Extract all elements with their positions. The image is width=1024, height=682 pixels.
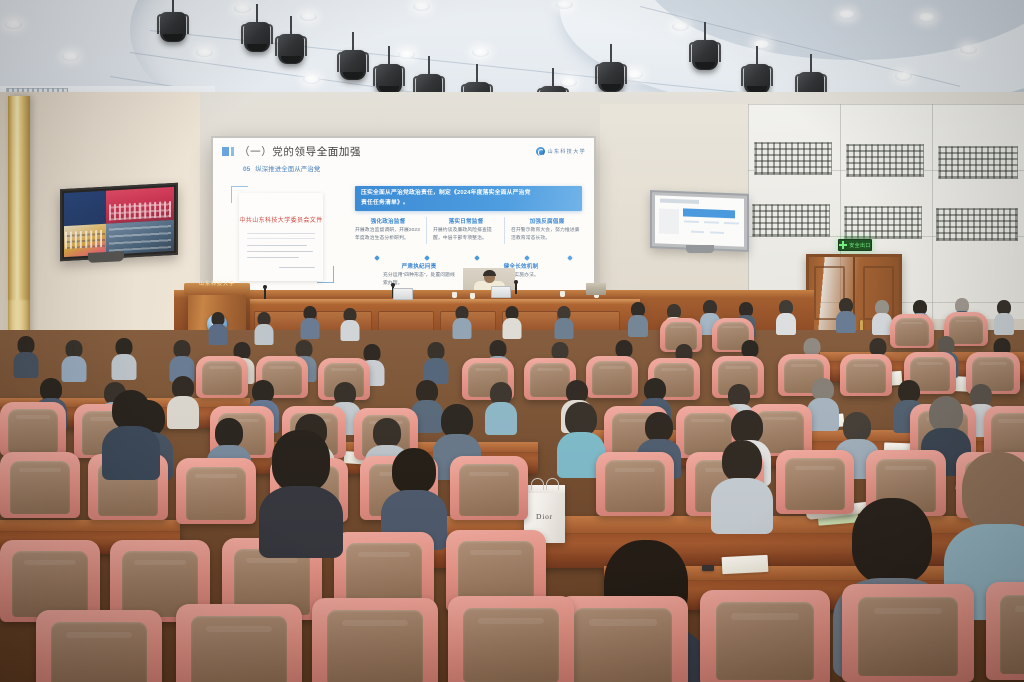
audience-member	[14, 336, 38, 376]
conference-hall-photo: （一）党的领导全面加强 05纵深推进全面从严治党 山东科技大学 中共山东科技大学…	[0, 0, 1024, 682]
downlight	[895, 72, 912, 81]
column-title: 加强反腐倡廉	[511, 217, 583, 225]
mirrored-slide	[655, 195, 744, 246]
perforated-acoustic-panel	[752, 204, 830, 237]
mini-slide-document	[659, 209, 679, 235]
connector-dot-icon	[474, 255, 480, 261]
bag-handle	[546, 478, 559, 490]
audience-member	[452, 306, 471, 338]
perforated-acoustic-panel	[844, 206, 922, 239]
microphone	[264, 287, 266, 299]
downlight	[234, 4, 251, 13]
audience-member	[836, 298, 856, 332]
mini-slide-column	[710, 231, 723, 234]
collage-photo	[64, 191, 106, 227]
audience-member	[486, 382, 516, 432]
laptop[interactable]	[393, 288, 413, 300]
connector-dot-icon	[567, 255, 573, 261]
audience-member	[62, 340, 86, 380]
exit-sign-text: 安全出口	[849, 242, 871, 249]
document-text-line	[247, 245, 307, 246]
column-title: 落实日常监督	[433, 217, 499, 225]
audience-member	[340, 308, 359, 340]
tv-wall-mount	[686, 245, 714, 253]
tv-screen-content	[64, 187, 174, 257]
auditorium-seat[interactable]	[842, 584, 974, 682]
presenter-hair	[483, 270, 496, 276]
document-text-line	[247, 251, 313, 252]
perforated-acoustic-panel	[938, 146, 1018, 179]
downlight	[5, 20, 22, 29]
university-logo: 山东科技大学	[536, 147, 586, 156]
slide-section-number: 05	[243, 166, 250, 173]
mini-slide-column	[691, 230, 704, 233]
mobile-phone[interactable]	[702, 565, 714, 571]
document-text-line	[247, 257, 299, 258]
audience-member	[106, 390, 156, 476]
slide-section-text: 纵深推进全面从严治党	[255, 166, 320, 173]
collage-photo	[106, 187, 174, 224]
water-cup	[560, 291, 565, 297]
slide-banner: 压实全面从严治党政治责任，制定《2024年度落实全面从严治党 责任任务清单》。	[355, 186, 582, 211]
wall-tv-right	[650, 190, 749, 252]
exit-sign: 安全出口	[838, 239, 872, 251]
banner-line-1: 压实全面从严治党政治责任，制定《2024年度落实全面从严治党	[361, 189, 576, 199]
audience-member-foreground	[268, 430, 334, 542]
downlight	[626, 70, 643, 79]
audience-member	[424, 342, 448, 382]
paper-sheet	[722, 555, 769, 574]
downlight	[62, 52, 79, 61]
auditorium-seat[interactable]	[586, 356, 638, 398]
slide-document-image: 中共山东科技大学委员会文件	[239, 193, 323, 281]
perforated-acoustic-panel	[846, 144, 924, 177]
stage-spotlight	[276, 26, 306, 66]
exit-cross-icon	[839, 241, 847, 249]
downlight	[196, 48, 213, 57]
stage-spotlight	[158, 4, 188, 44]
audience-member	[254, 312, 273, 344]
auditorium-seat[interactable]	[890, 314, 934, 348]
audience-member	[554, 306, 573, 338]
slide-columns-top: 强化政治监督 开展政治监督调研，开展2023年度政治生态分析研判。 落实日常监督…	[355, 217, 587, 244]
auditorium-seat[interactable]	[596, 452, 674, 516]
stage-spotlight	[374, 56, 404, 96]
audience-member	[808, 378, 838, 428]
column-body: 开展政治监督调研，开展2023年度政治生态分析研判。	[355, 227, 421, 244]
stage-spotlight	[338, 42, 368, 82]
audience-member	[170, 340, 194, 380]
audience-member	[716, 440, 768, 528]
audience-member	[112, 338, 136, 378]
column-title: 严肃执纪问责	[383, 262, 455, 270]
slide-column: 落实日常监督 开展约谈及廉政风险排查提醒，中层干部专项整治。	[433, 217, 505, 244]
auditorium-seat[interactable]	[558, 596, 688, 682]
downlight	[672, 22, 689, 31]
title-accent-icon	[222, 147, 234, 156]
podium-name-text: 山东科技大学	[184, 280, 250, 287]
tv-wall-mount	[88, 251, 124, 263]
connector-dot-icon	[424, 255, 430, 261]
document-text-line	[247, 233, 315, 234]
audience-member	[208, 312, 227, 344]
downlight	[960, 45, 977, 54]
audience-member	[994, 300, 1014, 334]
slide-column: 加强反腐倡廉 召开警示教育大会，努力推进廉洁教育常态长效。	[511, 217, 583, 244]
audience-member	[168, 376, 198, 426]
laptop[interactable]	[491, 286, 511, 298]
audience-member	[300, 306, 319, 338]
auditorium-seat[interactable]	[700, 590, 830, 682]
bag-brand-text: Dior	[524, 512, 565, 521]
auditorium-seat[interactable]	[36, 610, 162, 682]
water-cup	[452, 292, 457, 298]
downlight	[472, 48, 489, 57]
stage-spotlight	[690, 32, 720, 72]
university-emblem-icon	[536, 147, 545, 156]
slide-heading: （一）党的领导全面加强	[239, 144, 361, 159]
downlight	[918, 13, 935, 22]
tabletop-item	[586, 283, 606, 295]
perforated-acoustic-panel	[936, 208, 1018, 241]
downlight	[413, 2, 430, 11]
auditorium-seat[interactable]	[448, 596, 574, 682]
audience-member	[872, 300, 892, 334]
audience-member-foreground	[960, 452, 1024, 582]
auditorium-seat[interactable]	[986, 582, 1024, 680]
column-body: 召开警示教育大会，努力推进廉洁教育常态长效。	[511, 227, 583, 244]
column-body: 开展约谈及廉政风险排查提醒，中层干部专项整治。	[433, 227, 499, 244]
stage-spotlight	[742, 56, 772, 96]
downlight	[303, 75, 320, 84]
mini-slide-column	[704, 221, 719, 224]
slide-section-label: 05纵深推进全面从严治党	[243, 163, 320, 173]
bag-handle	[531, 478, 544, 490]
mini-slide-banner	[683, 209, 735, 218]
presentation-slide: （一）党的领导全面加强 05纵深推进全面从严治党 山东科技大学 中共山东科技大学…	[213, 138, 594, 293]
perforated-acoustic-panel	[754, 142, 832, 175]
auditorium-seat[interactable]	[840, 354, 892, 396]
downlight	[300, 12, 317, 21]
document-header-title: 中共山东科技大学委员会文件	[239, 215, 323, 224]
university-logo-text: 山东科技大学	[548, 148, 586, 155]
mini-slide-column	[684, 220, 699, 223]
slide-column: 强化政治监督 开展政治监督调研，开展2023年度政治生态分析研判。	[355, 217, 427, 244]
auditorium-seat[interactable]	[0, 402, 66, 456]
downlight	[556, 0, 573, 9]
auditorium-seat[interactable]	[312, 598, 438, 682]
auditorium-seat[interactable]	[450, 456, 528, 520]
audience-member	[628, 302, 648, 336]
connector-dot-icon	[374, 255, 380, 261]
document-text-line	[279, 267, 315, 268]
stage-spotlight	[242, 14, 272, 54]
mini-slide-title-bar	[660, 199, 699, 204]
audience-member	[502, 306, 521, 338]
audience-member	[386, 448, 442, 542]
audience-member	[776, 300, 796, 334]
document-text-line	[247, 238, 315, 239]
auditorium-seat[interactable]	[776, 450, 854, 514]
auditorium-seat[interactable]	[176, 604, 302, 682]
podium-top-surface: 山东科技大学	[184, 283, 250, 295]
auditorium-seat[interactable]	[196, 356, 248, 398]
wall-tv-left	[60, 183, 178, 262]
auditorium-seat[interactable]	[0, 452, 80, 518]
water-cup	[470, 293, 475, 299]
downlight	[838, 10, 855, 19]
microphone	[515, 282, 517, 294]
column-title: 强化政治监督	[355, 217, 421, 225]
slide-title-row: （一）党的领导全面加强	[222, 144, 361, 159]
connector-dot-icon	[524, 255, 530, 261]
auditorium-seat[interactable]	[176, 458, 256, 524]
stage-spotlight	[596, 54, 626, 94]
mini-slide-column	[724, 222, 739, 225]
banner-line-2: 责任任务清单》。	[361, 199, 576, 209]
projection-screen: （一）党的领导全面加强 05纵深推进全面从严治党 山东科技大学 中共山东科技大学…	[213, 138, 594, 293]
collage-photo	[106, 220, 174, 255]
